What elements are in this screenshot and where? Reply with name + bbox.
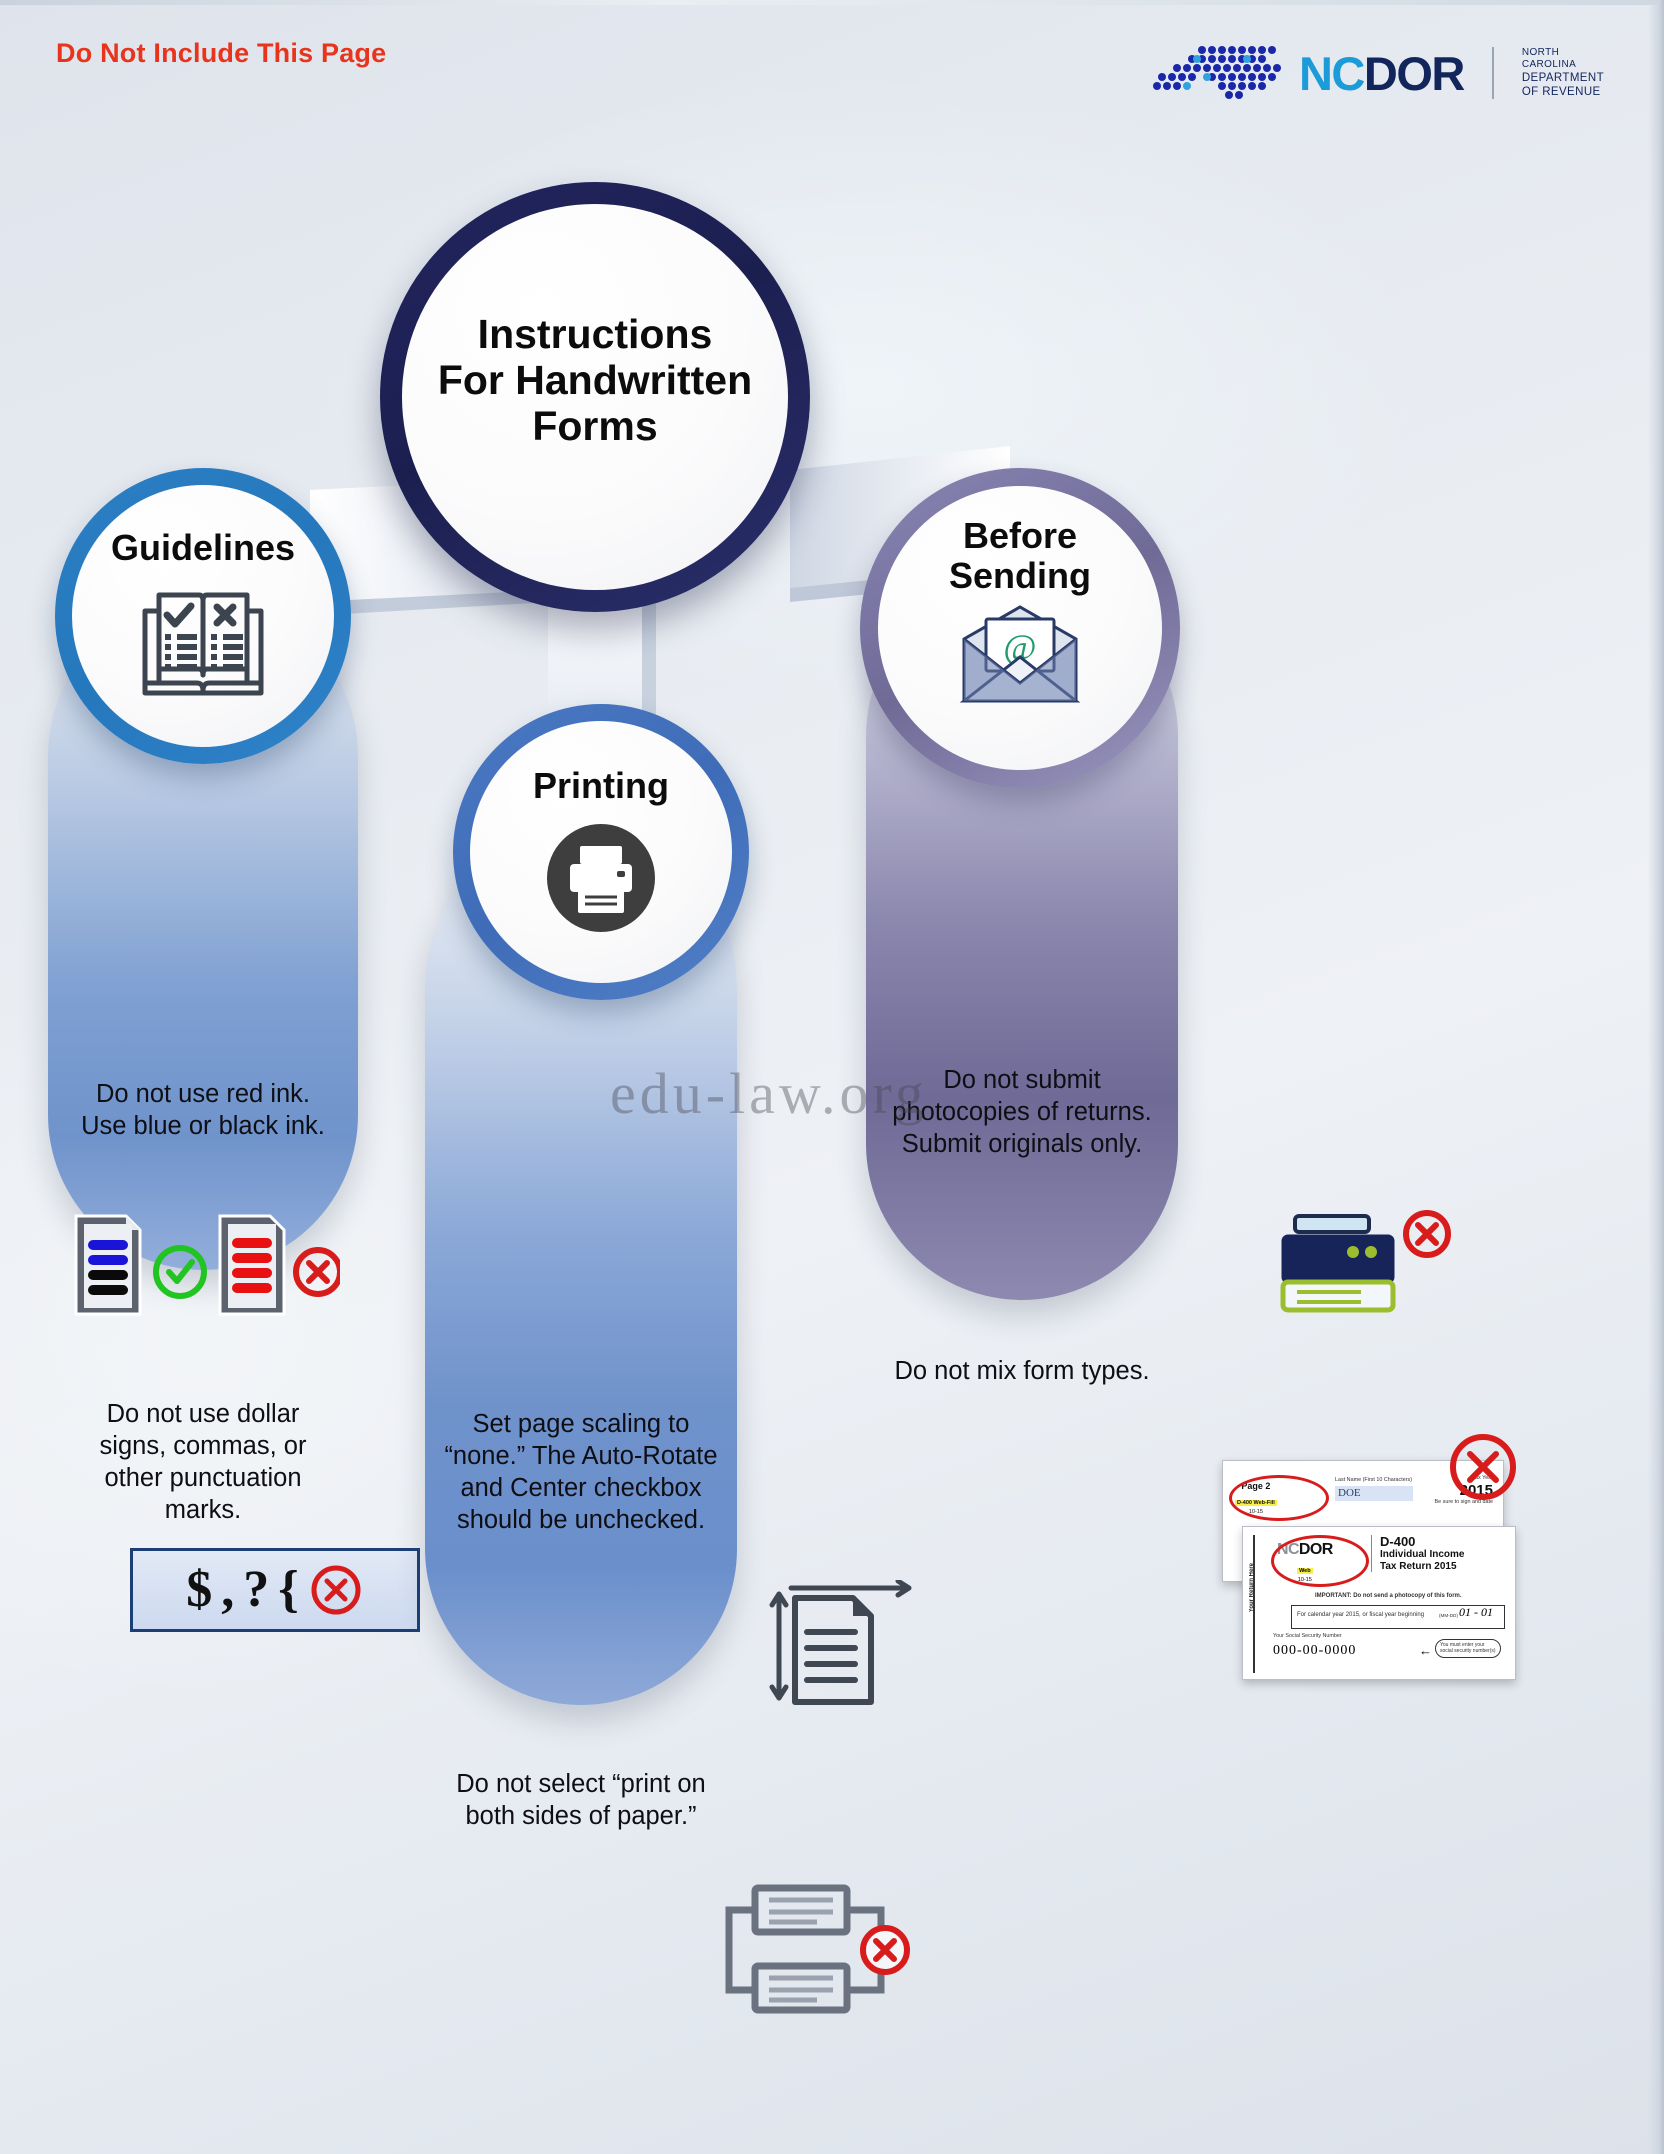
form-title-2: Tax Return 2015	[1380, 1561, 1464, 1573]
main-title-line-3: Forms	[438, 404, 752, 450]
printing-text-1: Set page scaling to “none.” The Auto-Rot…	[425, 1408, 737, 1537]
punct-2: ?	[243, 1564, 269, 1616]
guidelines-title: Guidelines	[111, 527, 295, 569]
red-x-circle-icon	[308, 1562, 364, 1618]
before-sending-title: Before Sending	[949, 516, 1091, 595]
form-ssn-label: Your Social Security Number	[1273, 1633, 1342, 1640]
red-x-circle-icon	[1406, 1213, 1448, 1255]
form-ssn-note-2: social security number(s)	[1440, 1648, 1496, 1654]
department-text: NORTH CAROLINA DEPARTMENT OF REVENUE	[1522, 47, 1604, 99]
red-x-circle-icon	[296, 1250, 340, 1294]
guidelines-text-1: Do not use red ink. Use blue or black in…	[48, 1078, 358, 1142]
before-sending-text-1-line-3: Submit originals only.	[866, 1128, 1178, 1160]
page-right-edge	[1648, 0, 1664, 2154]
printing-text-2-line-2: both sides of paper.”	[425, 1800, 737, 1832]
punct-0: $	[186, 1564, 212, 1616]
printing-text-1-line-3: and Center checkbox	[425, 1472, 737, 1504]
form-important: IMPORTANT: Do not send a photocopy of th…	[1315, 1593, 1462, 1601]
printing-circle-inner: Printing	[470, 721, 732, 983]
ink-comparison-icons	[70, 1210, 340, 1320]
page2-red-circle	[1229, 1475, 1329, 1521]
duplex-print-crossed-icon	[715, 1880, 955, 2020]
photocopier-crossed-icon	[1275, 1206, 1465, 1336]
form-calendar-line: For calendar year 2015, or fiscal year b…	[1297, 1612, 1424, 1620]
logo-divider	[1492, 47, 1494, 99]
guidelines-text-2-line-3: other punctuation	[48, 1462, 358, 1494]
printing-text-2-line-1: Do not select “print on	[425, 1768, 737, 1800]
side-label: Your Return Here	[1249, 1563, 1255, 1612]
punctuation-box: $ , ? {	[130, 1548, 420, 1632]
guidelines-circle[interactable]: Guidelines	[55, 468, 351, 764]
before-sending-text-1-line-2: photocopies of returns.	[866, 1096, 1178, 1128]
printing-text-2: Do not select “print on both sides of pa…	[425, 1768, 737, 1832]
page-scaling-arrows-icon	[755, 1580, 925, 1710]
page-top-edge	[0, 0, 1664, 5]
printing-text-1-line-1: Set page scaling to	[425, 1408, 737, 1440]
main-title-line-2: For Handwritten	[438, 358, 752, 404]
ncdor-wordmark: NCDOR	[1299, 50, 1464, 97]
red-x-circle-icon	[863, 1928, 907, 1972]
before-sending-text-2: Do not mix form types.	[866, 1355, 1178, 1387]
green-check-circle-icon	[156, 1248, 204, 1296]
red-x-circle-icon	[1446, 1430, 1520, 1504]
form-calendar-code: (MM-DD)	[1439, 1613, 1458, 1619]
lastname-value: DOE	[1338, 1487, 1361, 1499]
dept-line-1: NORTH	[1522, 47, 1604, 59]
guidelines-text-2-line-2: signs, commas, or	[48, 1430, 358, 1462]
document-red-ink-icon	[220, 1216, 284, 1314]
lastname-label: Last Name (First 10 Characters)	[1335, 1477, 1413, 1484]
main-title: Instructions For Handwritten Forms	[438, 312, 752, 450]
do-not-include-note: Do Not Include This Page	[56, 38, 386, 69]
printing-text-1-line-4: should be unchecked.	[425, 1504, 737, 1536]
guidelines-text-1-line-2: Use blue or black ink.	[48, 1110, 358, 1142]
form-calendar-value: 01 - 01	[1459, 1605, 1493, 1620]
printing-title: Printing	[533, 765, 669, 807]
guidelines-text-2-line-1: Do not use dollar	[48, 1398, 358, 1430]
document-blue-ink-icon	[76, 1216, 140, 1314]
main-title-line-1: Instructions	[438, 312, 752, 358]
dept-line-3: DEPARTMENT	[1522, 71, 1604, 85]
open-envelope-at-icon: @	[954, 605, 1086, 709]
before-sending-text-1: Do not submit photocopies of returns. Su…	[866, 1064, 1178, 1160]
form-ssn-value: 000-00-0000	[1273, 1643, 1356, 1659]
ncdor-logo: NCDOR NORTH CAROLINA DEPARTMENT OF REVEN…	[1143, 40, 1604, 106]
punct-3: {	[278, 1564, 299, 1616]
form-page-1: Your Return Here NCDOR Web 10-15 D-400 I…	[1242, 1526, 1516, 1680]
main-circle-inner: Instructions For Handwritten Forms	[402, 204, 788, 590]
main-circle[interactable]: Instructions For Handwritten Forms	[380, 182, 810, 612]
north-carolina-dot-map-icon	[1143, 40, 1283, 106]
open-book-check-x-icon	[137, 585, 269, 703]
punct-1: ,	[221, 1564, 234, 1616]
before-sending-text-1-line-1: Do not submit	[866, 1064, 1178, 1096]
dept-line-4: OF REVENUE	[1522, 85, 1604, 99]
ncdor-nc: NC	[1299, 50, 1364, 97]
dept-line-2: CAROLINA	[1522, 59, 1604, 71]
before-sending-title-line-1: Before	[949, 516, 1091, 556]
guidelines-circle-inner: Guidelines	[72, 485, 334, 747]
ncdor-dor: DOR	[1364, 50, 1464, 97]
guidelines-text-2-line-4: marks.	[48, 1494, 358, 1526]
printing-circle[interactable]: Printing	[453, 704, 749, 1000]
brand-red-circle	[1271, 1535, 1369, 1587]
before-sending-title-line-2: Sending	[949, 556, 1091, 596]
before-sending-circle[interactable]: Before Sending @	[860, 468, 1180, 788]
printer-icon	[542, 819, 660, 937]
d400-form-thumbnail: Page 2 D-400 Web-Fill 10-15 Last Name (F…	[1208, 1430, 1518, 1680]
form-no: D-400	[1380, 1535, 1464, 1549]
guidelines-text-1-line-1: Do not use red ink.	[48, 1078, 358, 1110]
form-title-1: Individual Income	[1380, 1549, 1464, 1561]
before-sending-text-2-line-1: Do not mix form types.	[866, 1355, 1178, 1387]
guidelines-text-2: Do not use dollar signs, commas, or othe…	[48, 1398, 358, 1527]
before-sending-circle-inner: Before Sending @	[878, 486, 1162, 770]
infographic-page: Do Not Include This Page	[0, 0, 1664, 2154]
printing-text-1-line-2: “none.” The Auto-Rotate	[425, 1440, 737, 1472]
